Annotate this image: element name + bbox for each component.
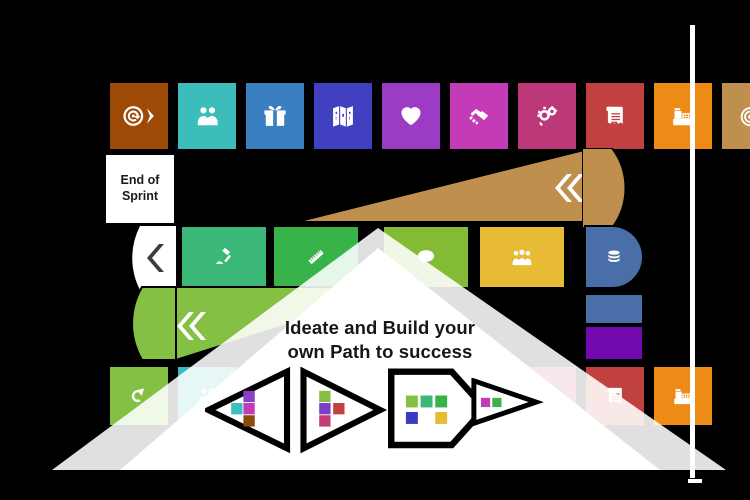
lower-tile-curved-arrow[interactable] — [108, 365, 170, 427]
handshake-icon — [462, 99, 496, 133]
badge-square — [243, 391, 254, 402]
center-message: Ideate and Build your own Path to succes… — [255, 316, 505, 365]
badge-square — [481, 398, 490, 407]
top-tile-handshake[interactable] — [448, 81, 510, 151]
badge-square — [319, 403, 330, 414]
top-tile-gift[interactable] — [244, 81, 306, 151]
badge-square — [319, 415, 330, 426]
sweep-tile-speech-bubble[interactable] — [382, 225, 470, 289]
end-of-sprint-card[interactable]: End of Sprint — [106, 155, 174, 223]
badge-square — [243, 415, 254, 426]
top-tile-folded-map[interactable] — [312, 81, 374, 151]
speech-bubble-icon — [411, 242, 441, 272]
badge-square — [421, 396, 433, 408]
spiral-arrow-icon — [122, 99, 156, 133]
white-left-cap — [106, 226, 176, 290]
badge-square — [243, 403, 254, 414]
badge-arrow-far-right[interactable] — [462, 378, 558, 446]
sweep-tile-ruler[interactable] — [272, 225, 360, 289]
tan-rounded-cap — [582, 148, 648, 228]
right-tile-none[interactable] — [584, 325, 644, 361]
receipt-icon — [600, 381, 630, 411]
target-arrow-icon — [734, 99, 750, 133]
heart-icon — [394, 99, 428, 133]
infographic-canvas: End of Sprint Ideate — [0, 0, 750, 500]
badge-square — [406, 396, 418, 408]
gears-icon — [530, 99, 564, 133]
top-tile-gears[interactable] — [516, 81, 578, 151]
badge-square — [435, 412, 447, 424]
lower-tile-cash-register[interactable] — [652, 365, 714, 427]
vertical-divider-foot — [688, 479, 702, 483]
sweep-tile-three-people[interactable] — [478, 225, 566, 289]
badge-square — [492, 398, 501, 407]
three-people-icon — [507, 242, 537, 272]
badge-square — [319, 391, 330, 402]
gift-icon — [258, 99, 292, 133]
top-tile-target-arrow[interactable] — [720, 81, 750, 151]
badge-square — [435, 396, 447, 408]
database-icon — [601, 244, 627, 270]
folded-map-icon — [326, 99, 360, 133]
two-people-icon — [190, 99, 224, 133]
badge-square — [231, 403, 242, 414]
badge-diamond-center[interactable] — [300, 362, 396, 458]
lower-tile-receipt[interactable] — [584, 365, 646, 427]
curved-arrow-icon — [124, 381, 154, 411]
tan-return-sweep — [296, 148, 586, 226]
badge-diamond-left[interactable] — [205, 362, 301, 458]
center-message-line1: Ideate and Build your — [255, 316, 505, 340]
ruler-icon — [301, 242, 331, 272]
gavel-auction-icon — [209, 242, 239, 272]
top-tile-receipt[interactable] — [584, 81, 646, 151]
top-tile-spiral-arrow[interactable] — [108, 81, 170, 151]
sweep-tile-gavel-auction[interactable] — [180, 225, 268, 289]
right-tile-database[interactable] — [584, 225, 644, 289]
right-tile-none[interactable] — [584, 293, 644, 325]
badge-square — [406, 412, 418, 424]
top-tile-two-people[interactable] — [176, 81, 238, 151]
end-of-sprint-line2: Sprint — [121, 189, 160, 205]
receipt-icon — [598, 99, 632, 133]
top-tile-cash-register[interactable] — [652, 81, 714, 151]
vertical-white-divider — [690, 25, 695, 478]
badge-square — [333, 403, 344, 414]
end-of-sprint-line1: End of — [121, 173, 160, 189]
top-tile-heart[interactable] — [380, 81, 442, 151]
